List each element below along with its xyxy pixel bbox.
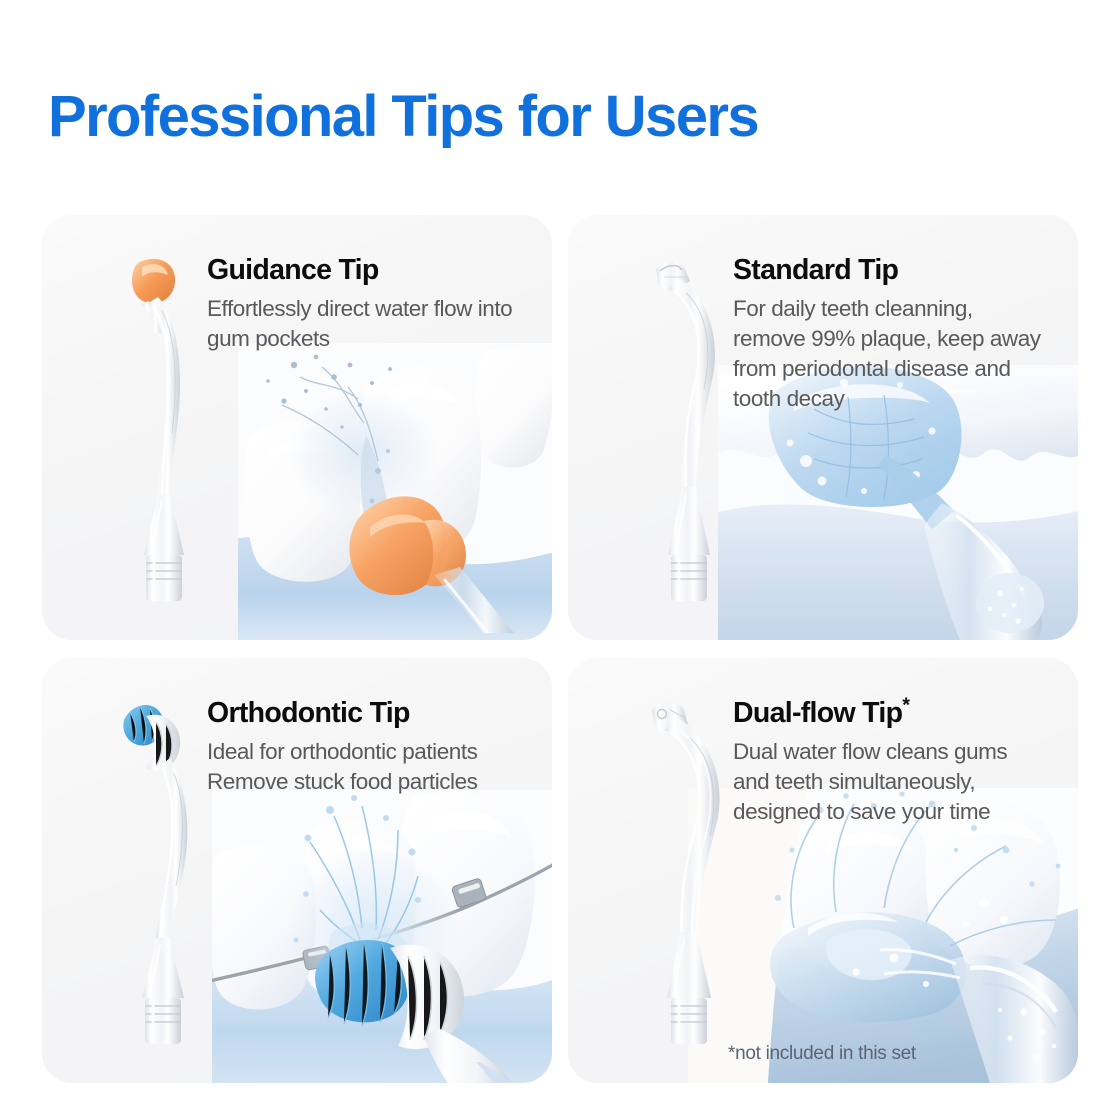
teeth-gum-pocket-spray-image [238, 343, 552, 640]
card-title-text: Dual-flow Tip [733, 697, 902, 729]
card-text-block: Standard Tip For daily teeth cleanning, … [733, 253, 1060, 414]
teeth-dual-water-splash-image [688, 788, 1078, 1083]
card-title: Standard Tip [733, 253, 1060, 287]
card-description: Ideal for orthodontic patients Remove st… [207, 737, 519, 797]
braces-brush-spray-image [212, 790, 552, 1083]
infographic-page: Professional Tips for Users [0, 0, 1120, 1118]
dual-flow-tip-nozzle-icon [634, 698, 742, 1046]
dual-flow-footnote: *not included in this set [728, 1043, 916, 1065]
card-title: Orthodontic Tip [207, 696, 534, 730]
card-text-block: Guidance Tip Effortlessly direct water f… [207, 253, 534, 354]
card-orthodontic-tip[interactable]: Orthodontic Tip Ideal for orthodontic pa… [42, 658, 552, 1083]
guidance-tip-nozzle-icon [108, 255, 216, 603]
card-guidance-tip[interactable]: Guidance Tip Effortlessly direct water f… [42, 215, 552, 640]
orthodontic-tip-nozzle-icon [108, 698, 216, 1046]
card-standard-tip[interactable]: Standard Tip For daily teeth cleanning, … [568, 215, 1078, 640]
page-title: Professional Tips for Users [48, 84, 758, 150]
card-title: Dual-flow Tip* [733, 696, 1060, 730]
card-text-block: Orthodontic Tip Ideal for orthodontic pa… [207, 696, 534, 797]
standard-tip-nozzle-icon [634, 255, 742, 603]
card-title-asterisk: * [902, 695, 909, 717]
card-text-block: Dual-flow Tip* Dual water flow cleans gu… [733, 696, 1060, 827]
card-dual-flow-tip[interactable]: Dual-flow Tip* Dual water flow cleans gu… [568, 658, 1078, 1083]
card-description: Dual water flow cleans gums and teeth si… [733, 737, 1045, 827]
card-description: For daily teeth cleanning, remove 99% pl… [733, 294, 1045, 414]
card-description: Effortlessly direct water flow into gum … [207, 294, 519, 354]
tips-card-grid: Guidance Tip Effortlessly direct water f… [42, 215, 1078, 1083]
card-title: Guidance Tip [207, 253, 534, 287]
